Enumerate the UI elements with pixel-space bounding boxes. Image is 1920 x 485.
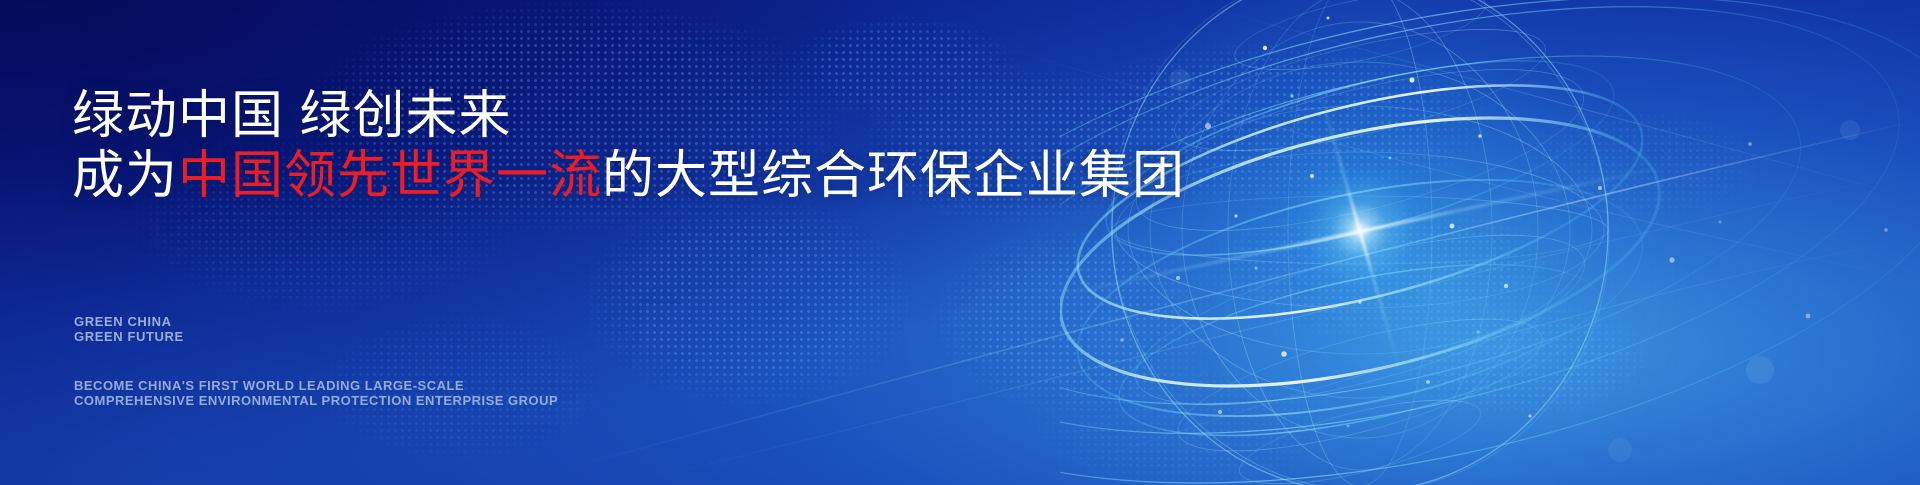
- headline-highlight: 中国领先世界一流: [178, 147, 602, 205]
- headline-suffix: 的大型综合环保企业集团: [602, 147, 1185, 205]
- banner-content: 绿动中国 绿创未来 成为中国领先世界一流的大型综合环保企业集团 GREEN CH…: [72, 0, 1152, 485]
- headline-prefix: 成为: [72, 147, 178, 205]
- subtitle-line-2: COMPREHENSIVE ENVIRONMENTAL PROTECTION E…: [74, 393, 558, 408]
- hero-banner: 绿动中国 绿创未来 成为中国领先世界一流的大型综合环保企业集团 GREEN CH…: [0, 0, 1920, 485]
- subtitle-line-1: BECOME CHINA'S FIRST WORLD LEADING LARGE…: [74, 378, 558, 393]
- tagline-line-1: GREEN CHINA: [74, 314, 184, 329]
- tagline: GREEN CHINA GREEN FUTURE: [74, 314, 184, 344]
- headline-line-2: 成为中国领先世界一流的大型综合环保企业集团: [72, 146, 1185, 206]
- headline: 绿动中国 绿创未来 成为中国领先世界一流的大型综合环保企业集团: [72, 86, 1185, 206]
- tagline-line-2: GREEN FUTURE: [74, 329, 184, 344]
- headline-line-1: 绿动中国 绿创未来: [72, 87, 511, 145]
- subtitle: BECOME CHINA'S FIRST WORLD LEADING LARGE…: [74, 378, 558, 408]
